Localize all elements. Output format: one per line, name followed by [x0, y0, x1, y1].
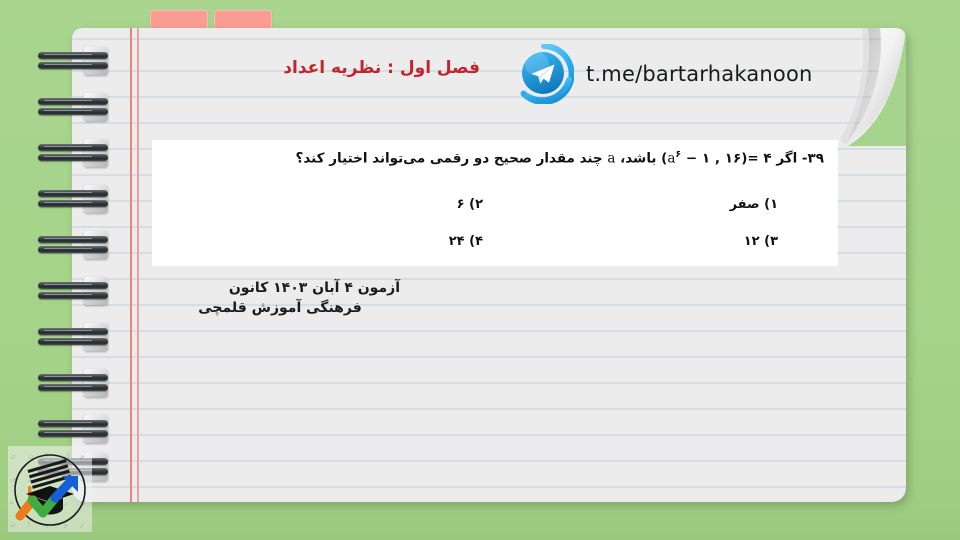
ring-bar-top: [38, 144, 108, 151]
svg-text:ن: ن: [10, 520, 15, 528]
option-2[interactable]: ۲) ۶: [457, 197, 483, 212]
watermark-text: t.me/bartarhakanoon: [586, 62, 813, 86]
question-card: ۳۹- اگر ۴ =(a۶ − ۱ , ۱۶) باشد، a چند مقد…: [152, 140, 838, 266]
svg-text:م: م: [80, 452, 84, 460]
question-stem-after: چند مقدار صحیح دو رقمی می‌تواند اختیار ک…: [296, 151, 608, 167]
option-1[interactable]: ۱) صفر: [730, 197, 778, 212]
option-4[interactable]: ۴) ۲۴: [449, 234, 483, 249]
spiral-ring: [38, 372, 108, 394]
question-number: ۳۹-: [802, 151, 824, 167]
svg-text:ا: ا: [28, 520, 30, 528]
telegram-icon: [514, 44, 574, 104]
ring-bar-bottom: [38, 154, 108, 161]
ring-bar-top: [38, 236, 108, 243]
ring-bar-top: [38, 52, 108, 59]
ring-bar-bottom: [38, 338, 108, 345]
chapter-title: فصل اول : نظریه اعداد: [160, 58, 480, 78]
spiral-ring: [38, 50, 108, 72]
svg-text:ن: ن: [28, 452, 33, 460]
ring-bar-bottom: [38, 292, 108, 299]
ring-bar-top: [38, 98, 108, 105]
svg-text:ز: ز: [79, 520, 83, 528]
ring-bar-top: [38, 190, 108, 197]
spiral-ring: [38, 326, 108, 348]
question-stem-before: اگر ۴ =(: [741, 151, 797, 167]
spiral-ring: [38, 142, 108, 164]
slide-canvas: فصل اول : نظریه اعداد: [0, 0, 960, 540]
svg-text:م: م: [46, 520, 50, 528]
exam-source-line-2: فرهنگی آموزش قلمچی: [160, 298, 400, 318]
ring-bar-top: [38, 420, 108, 427]
ring-bar-bottom: [38, 246, 108, 253]
ring-bar-bottom: [38, 108, 108, 115]
svg-text:ر: ر: [63, 498, 67, 506]
channel-logo[interactable]: یناکم سردان هبتری ناموز: [8, 446, 92, 532]
ring-bar-bottom: [38, 62, 108, 69]
ring-bar-top: [38, 328, 108, 335]
ring-bar-bottom: [38, 384, 108, 391]
question-stem: ۳۹- اگر ۴ =(a۶ − ۱ , ۱۶) باشد، a چند مقد…: [296, 149, 824, 167]
exam-source-line-1: آزمون ۴ آبان ۱۴۰۳ کانون: [160, 278, 400, 298]
spiral-ring: [38, 418, 108, 440]
graduation-cap-growth-arrow-icon: یناکم سردان هبتری ناموز: [8, 446, 92, 532]
svg-text:ی: ی: [10, 452, 16, 460]
spiral-ring: [38, 234, 108, 256]
svg-text:ه: ه: [10, 498, 14, 506]
exam-source: آزمون ۴ آبان ۱۴۰۳ کانون فرهنگی آموزش قلم…: [160, 278, 400, 319]
option-3[interactable]: ۳) ۱۲: [744, 234, 778, 249]
spiral-ring: [38, 188, 108, 210]
ring-bar-top: [38, 374, 108, 381]
margin-rule-inner: [137, 28, 139, 502]
telegram-watermark[interactable]: t.me/bartarhakanoon: [514, 44, 813, 104]
margin-rule-outer: [130, 28, 132, 502]
ring-bar-bottom: [38, 430, 108, 437]
spiral-ring: [38, 96, 108, 118]
spiral-ring: [38, 280, 108, 302]
ring-bar-top: [38, 282, 108, 289]
ring-bar-bottom: [38, 200, 108, 207]
